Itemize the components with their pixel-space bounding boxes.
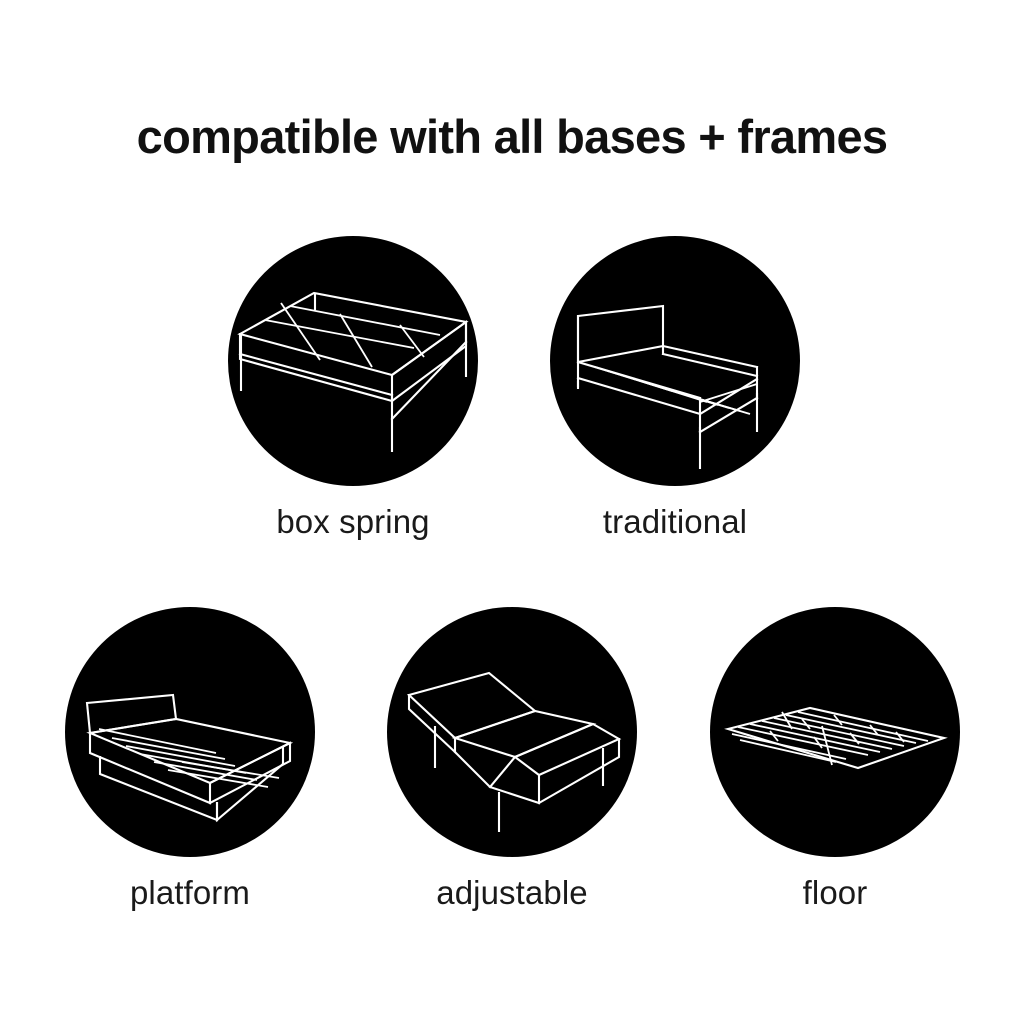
page-title: compatible with all bases + frames (0, 112, 1024, 161)
base-item-box-spring[interactable]: box spring (228, 236, 478, 541)
base-label-floor: floor (710, 874, 960, 912)
traditional-bed-frame-icon (550, 236, 800, 486)
adjustable-base-icon (387, 607, 637, 857)
floor-icon (710, 607, 960, 857)
base-item-traditional[interactable]: traditional (550, 236, 800, 541)
base-label-platform: platform (65, 874, 315, 912)
base-label-adjustable: adjustable (387, 874, 637, 912)
platform-bed-icon (65, 607, 315, 857)
compatibility-graphic: compatible with all bases + frames (0, 0, 1024, 1024)
box-spring-icon (228, 236, 478, 486)
base-item-floor[interactable]: floor (710, 607, 960, 912)
base-item-adjustable[interactable]: adjustable (387, 607, 637, 912)
base-label-traditional: traditional (550, 503, 800, 541)
base-label-box-spring: box spring (228, 503, 478, 541)
base-item-platform[interactable]: platform (65, 607, 315, 912)
